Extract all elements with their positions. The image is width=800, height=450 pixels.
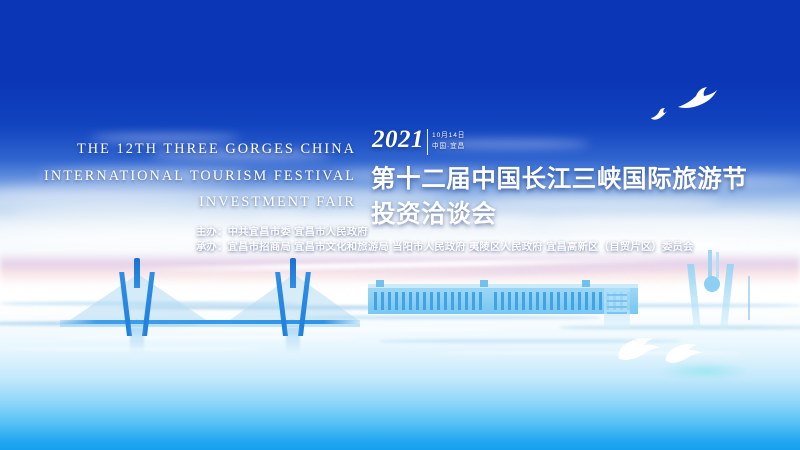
english-title-line2: INTERNATIONAL TOURISM FESTIVAL: [0, 163, 366, 190]
bridge-pylon-right: [282, 258, 304, 336]
event-date: 10月14日: [432, 131, 488, 142]
host-organizers: 主办：中共宜昌市委 宜昌市人民政府: [196, 223, 368, 238]
three-gorges-dam: [368, 282, 638, 322]
flying-bird-large-icon: [676, 86, 718, 112]
flying-bird-small-icon: [650, 108, 668, 121]
year-label: 2021: [372, 126, 424, 154]
cable-stayed-bridge: [60, 258, 360, 354]
english-title: THE 12TH THREE GORGES CHINA INTERNATIONA…: [0, 136, 366, 216]
english-title-line1: THE 12TH THREE GORGES CHINA: [0, 136, 366, 163]
dolphin-left: [616, 336, 662, 367]
year-divider: [427, 129, 428, 155]
tv-tower: [690, 250, 736, 330]
dolphin-wake: [660, 362, 750, 380]
english-title-line3: INVESTMENT FAIR: [0, 189, 366, 216]
bridge-deck-shadow: [60, 324, 360, 327]
event-banner: THE 12TH THREE GORGES CHINA INTERNATIONA…: [0, 0, 800, 450]
chinese-title-line2: 投资洽谈会: [371, 195, 497, 230]
coorganizers: 承办：宜昌市招商局 宜昌市文化和旅游局 当阳市人民政府 夷陵区人民政府 宜昌高新…: [196, 238, 694, 253]
chinese-title-line1: 第十二届中国长江三峡国际旅游节: [371, 160, 748, 195]
event-location: 中国·宜昌: [432, 142, 488, 153]
right-building: [604, 288, 630, 328]
bridge-pylon-left: [126, 258, 148, 336]
event-date-location: 10月14日 中国·宜昌: [432, 131, 488, 152]
